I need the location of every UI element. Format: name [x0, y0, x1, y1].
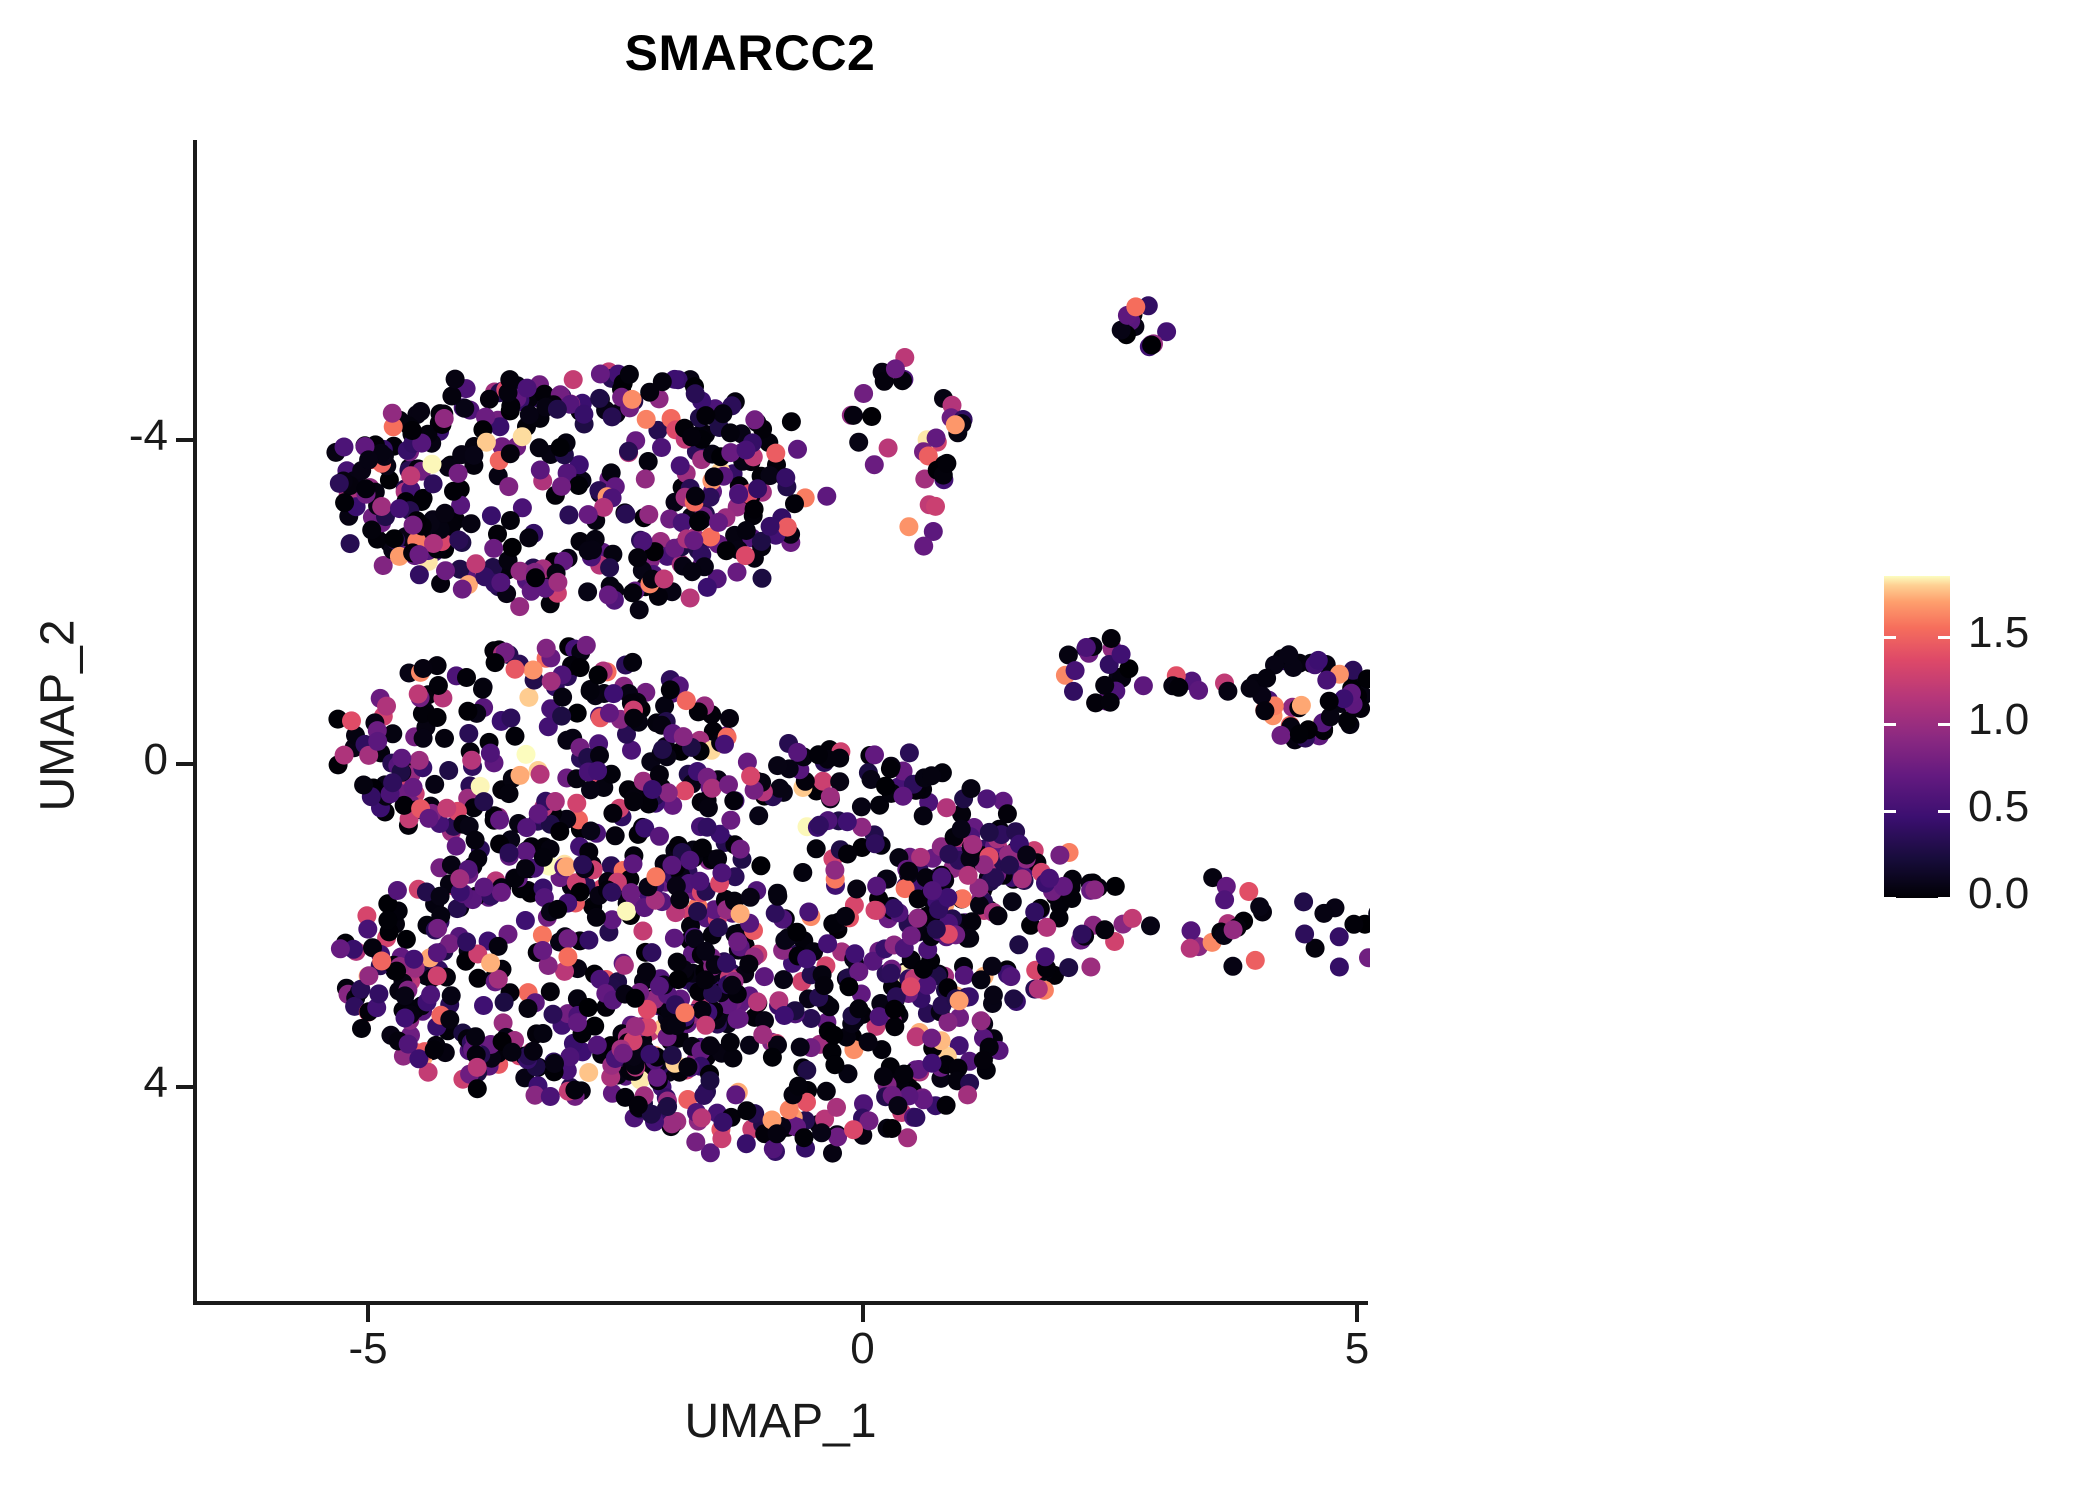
- scatter-point: [641, 1045, 660, 1064]
- scatter-point: [640, 383, 659, 402]
- scatter-point: [1255, 701, 1274, 720]
- page-title: SMARCC2: [0, 24, 1500, 82]
- scatter-point: [653, 740, 672, 759]
- scatter-point: [372, 952, 391, 971]
- scatter-point: [500, 784, 519, 803]
- scatter-point: [1102, 629, 1121, 648]
- scatter-point: [728, 563, 747, 582]
- scatter-point: [703, 779, 722, 798]
- scatter-point: [686, 384, 705, 403]
- scatter-point: [688, 902, 707, 921]
- scatter-point: [709, 513, 728, 532]
- colorbar-gradient: [1884, 576, 1950, 898]
- scatter-point: [354, 776, 373, 795]
- scatter-point: [894, 787, 913, 806]
- scatter-point: [923, 1054, 942, 1073]
- scatter-point: [737, 1101, 756, 1120]
- scatter-point: [867, 877, 886, 896]
- x-tick-label: 0: [783, 1324, 943, 1374]
- scatter-point: [600, 558, 619, 577]
- x-tick-mark: [366, 1305, 370, 1322]
- scatter-point: [709, 918, 728, 937]
- scatter-point: [900, 743, 919, 762]
- scatter-point: [551, 438, 570, 457]
- scatter-point: [435, 729, 454, 748]
- scatter-point: [789, 1077, 808, 1096]
- scatter-point: [1218, 682, 1237, 701]
- scatter-point: [721, 1033, 740, 1052]
- scatter-point: [690, 872, 709, 891]
- scatter-point: [778, 518, 797, 537]
- scatter-point: [603, 804, 622, 823]
- scatter-point: [1077, 638, 1096, 657]
- scatter-point: [1064, 682, 1083, 701]
- scatter-point: [341, 534, 360, 553]
- scatter-point: [480, 390, 499, 409]
- colorbar-tick-label: 0.0: [1968, 869, 2029, 919]
- scatter-point: [429, 676, 448, 695]
- scatter-point: [541, 1087, 560, 1106]
- scatter-point: [865, 455, 884, 474]
- scatter-point: [669, 970, 688, 989]
- scatter-point: [383, 773, 402, 792]
- scatter-point: [717, 954, 736, 973]
- scatter-point: [431, 887, 450, 906]
- scatter-point: [468, 1079, 487, 1098]
- scatter-point: [939, 845, 958, 864]
- scatter-point: [766, 444, 785, 463]
- scatter-point: [481, 954, 500, 973]
- scatter-point: [812, 1123, 831, 1142]
- scatter-point: [712, 863, 731, 882]
- scatter-point: [1292, 696, 1311, 715]
- scatter-point: [977, 789, 996, 808]
- scatter-point: [559, 929, 578, 948]
- colorbar-tick-label: 0.5: [1968, 782, 2029, 832]
- scatter-point: [753, 1025, 772, 1044]
- scatter-point: [401, 466, 420, 485]
- scatter-point: [844, 406, 863, 425]
- scatter-point: [574, 405, 593, 424]
- scatter-point: [1320, 692, 1339, 711]
- scatter-point: [766, 904, 785, 923]
- scatter-point: [699, 798, 718, 817]
- scatter-point: [503, 1043, 522, 1062]
- scatter-point: [888, 1096, 907, 1115]
- scatter-point: [721, 423, 740, 442]
- scatter-point: [623, 653, 642, 672]
- scatter-point: [491, 573, 510, 592]
- scatter-point: [788, 923, 807, 942]
- scatter-point: [356, 479, 375, 498]
- scatter-point: [825, 861, 844, 880]
- scatter-point: [421, 985, 440, 1004]
- scatter-point: [524, 1042, 543, 1061]
- scatter-point: [1029, 979, 1048, 998]
- scatter-point: [449, 531, 468, 550]
- scatter-point: [1181, 939, 1200, 958]
- scatter-point: [683, 562, 702, 581]
- scatter-point: [524, 661, 543, 680]
- scatter-point: [404, 516, 423, 535]
- scatter-point: [517, 842, 536, 861]
- scatter-point: [526, 568, 545, 587]
- scatter-point: [914, 806, 933, 825]
- scatter-point: [671, 456, 690, 475]
- scatter-point: [462, 514, 481, 533]
- scatter-point: [637, 962, 656, 981]
- scatter-point: [652, 438, 671, 457]
- scatter-point: [1330, 958, 1349, 977]
- scatter-point: [511, 766, 530, 785]
- scatter-point: [466, 1027, 485, 1046]
- scatter-point: [874, 1067, 893, 1086]
- scatter-point: [600, 704, 619, 723]
- scatter-point: [696, 1016, 715, 1035]
- scatter-point: [620, 365, 639, 384]
- x-tick-mark: [1355, 1305, 1359, 1322]
- scatter-point: [1330, 927, 1349, 946]
- scatter-point: [469, 969, 488, 988]
- scatter-point: [626, 989, 645, 1008]
- scatter-point: [901, 977, 920, 996]
- scatter-point: [1036, 947, 1055, 966]
- scatter-point: [486, 653, 505, 672]
- scatter-point: [1106, 877, 1125, 896]
- scatter-point: [818, 934, 837, 953]
- scatter-point: [474, 792, 493, 811]
- scatter-point: [492, 883, 511, 902]
- scatter-point: [548, 900, 567, 919]
- scatter-point: [489, 937, 508, 956]
- scatter-point: [423, 455, 442, 474]
- scatter-point: [1000, 856, 1019, 875]
- scatter-point: [768, 887, 787, 906]
- scatter-point: [736, 546, 755, 565]
- scatter-point: [866, 901, 885, 920]
- scatter-point: [447, 837, 466, 856]
- scatter-point: [425, 775, 444, 794]
- scatter-point: [475, 878, 494, 897]
- colorbar-tick-mark: [1884, 810, 1896, 813]
- scatter-point: [534, 1024, 553, 1043]
- scatter-point: [768, 756, 787, 775]
- scatter-point: [409, 685, 428, 704]
- scatter-point: [589, 666, 608, 685]
- colorbar-tick-mark: [1884, 636, 1896, 639]
- colorbar-tick-mark: [1884, 723, 1896, 726]
- scatter-point: [546, 792, 565, 811]
- scatter-point: [458, 702, 477, 721]
- scatter-point: [745, 410, 764, 429]
- scatter-point: [658, 1097, 677, 1116]
- scatter-point: [358, 920, 377, 939]
- scatter-point: [895, 1065, 914, 1084]
- scatter-point: [881, 759, 900, 778]
- scatter-point: [821, 787, 840, 806]
- scatter-point: [1095, 676, 1114, 695]
- scatter-point: [626, 1017, 645, 1036]
- scatter-point: [655, 570, 674, 589]
- scatter-point: [516, 911, 535, 930]
- scatter-point: [885, 899, 904, 918]
- scatter-point: [633, 532, 652, 551]
- scatter-point: [378, 911, 397, 930]
- scatter-point: [619, 442, 638, 461]
- scatter-point: [849, 433, 868, 452]
- scatter-point: [720, 709, 739, 728]
- scatter-point: [1169, 678, 1188, 697]
- scatter-point: [922, 1029, 941, 1048]
- scatter-point: [1050, 846, 1069, 865]
- scatter-point: [397, 930, 416, 949]
- scatter-point: [428, 943, 447, 962]
- scatter-point: [923, 881, 942, 900]
- scatter-point: [581, 682, 600, 701]
- scatter-point: [629, 1096, 648, 1115]
- scatter-point: [428, 708, 447, 727]
- scatter-point: [662, 856, 681, 875]
- scatter-point: [537, 639, 556, 658]
- scatter-point: [559, 506, 578, 525]
- x-axis-title: UMAP_1: [193, 1394, 1368, 1449]
- scatter-point: [411, 402, 430, 421]
- scatter-point: [980, 823, 999, 842]
- scatter-point: [442, 986, 461, 1005]
- scatter-point: [501, 709, 520, 728]
- scatter-point: [439, 761, 458, 780]
- scatter-point: [937, 798, 956, 817]
- scatter-point: [824, 1026, 843, 1045]
- scatter-point: [474, 996, 493, 1015]
- scatter-point: [686, 1133, 705, 1152]
- scatter-point: [517, 745, 536, 764]
- scatter-point: [390, 499, 409, 518]
- scatter-point: [533, 941, 552, 960]
- scatter-point: [847, 880, 866, 899]
- scatter-point: [698, 578, 717, 597]
- scatter-point: [449, 464, 468, 483]
- scatter-point: [335, 438, 354, 457]
- scatter-point: [545, 1054, 564, 1073]
- scatter-point: [396, 1009, 415, 1028]
- scatter-point: [1017, 846, 1036, 865]
- scatter-point: [650, 977, 669, 996]
- colorbar-tick-label: 1.5: [1968, 608, 2029, 658]
- scatter-point: [436, 561, 455, 580]
- scatter-point: [955, 966, 974, 985]
- scatter-point: [883, 1119, 902, 1138]
- scatter-point: [639, 452, 658, 471]
- colorbar-tick-mark: [1938, 897, 1950, 900]
- scatter-point: [726, 1085, 745, 1104]
- scatter-point: [1272, 726, 1291, 745]
- scatter-point: [862, 407, 881, 426]
- scatter-point: [623, 390, 642, 409]
- scatter-point: [633, 922, 652, 941]
- scatter-point: [650, 827, 669, 846]
- scatter-point: [963, 835, 982, 854]
- scatter-point: [845, 944, 864, 963]
- scatter-point: [838, 812, 857, 831]
- scatter-point: [849, 999, 868, 1018]
- scatter-point: [881, 964, 900, 983]
- scatter-point: [983, 957, 1002, 976]
- colorbar-tick-mark: [1884, 897, 1896, 900]
- scatter-point: [724, 791, 743, 810]
- scatter-point: [670, 890, 689, 909]
- scatter-point: [548, 400, 567, 419]
- scatter-point: [745, 500, 764, 519]
- scatter-point: [797, 949, 816, 968]
- scatter-point: [839, 977, 858, 996]
- scatter-point: [958, 1085, 977, 1104]
- scatter-point: [506, 660, 525, 679]
- scatter-point: [763, 1048, 782, 1067]
- y-axis-title: UMAP_2: [31, 416, 86, 1016]
- scatter-point: [519, 528, 538, 547]
- scatter-point: [579, 931, 598, 950]
- scatter-point: [823, 1144, 842, 1163]
- scatter-point: [731, 904, 750, 923]
- scatter-point: [908, 909, 927, 928]
- scatter-point: [865, 745, 884, 764]
- scatter-point: [1279, 645, 1298, 664]
- scatter-point: [578, 582, 597, 601]
- scatter-point: [624, 792, 643, 811]
- scatter-point: [701, 1036, 720, 1055]
- scatter-point: [462, 751, 481, 770]
- scatter-point: [519, 688, 538, 707]
- y-tick-mark: [176, 1085, 193, 1089]
- scatter-point: [937, 454, 956, 473]
- scatter-point: [810, 816, 829, 835]
- scatter-point: [739, 955, 758, 974]
- scatter-point: [577, 636, 596, 655]
- scatter-point: [450, 869, 469, 888]
- scatter-point: [852, 797, 871, 816]
- scatter-point: [410, 751, 429, 770]
- scatter-point: [591, 365, 610, 384]
- scatter-point: [1009, 935, 1028, 954]
- scatter-point: [737, 441, 756, 460]
- scatter-point: [1095, 920, 1114, 939]
- scatter-point: [534, 848, 553, 867]
- scatter-point: [440, 1010, 459, 1029]
- scatter-point: [604, 684, 623, 703]
- scatter-point: [404, 778, 423, 797]
- scatter-point: [712, 1129, 731, 1148]
- scatter-points: [195, 140, 1370, 1305]
- scatter-point: [410, 545, 429, 564]
- scatter-point: [331, 939, 350, 958]
- scatter-point: [495, 993, 514, 1012]
- colorbar-tick-mark: [1938, 723, 1950, 726]
- scatter-point: [782, 412, 801, 431]
- scatter-point: [565, 1081, 584, 1100]
- scatter-point: [558, 947, 577, 966]
- scatter-point: [359, 966, 378, 985]
- scatter-point: [741, 888, 760, 907]
- scatter-point: [1101, 693, 1120, 712]
- scatter-point: [684, 531, 703, 550]
- scatter-point: [646, 867, 665, 886]
- scatter-point: [466, 831, 485, 850]
- scatter-point: [419, 809, 438, 828]
- scatter-point: [335, 746, 354, 765]
- scatter-point: [659, 783, 678, 802]
- scatter-point: [444, 482, 463, 501]
- scatter-point: [542, 672, 561, 691]
- scatter-point: [1081, 958, 1100, 977]
- scatter-point: [701, 1071, 720, 1090]
- scatter-point: [1309, 651, 1328, 670]
- scatter-point: [569, 476, 588, 495]
- scatter-point: [939, 1013, 958, 1032]
- scatter-point: [1239, 882, 1258, 901]
- scatter-point: [624, 854, 643, 873]
- scatter-point: [749, 806, 768, 825]
- scatter-point: [531, 461, 550, 480]
- scatter-point: [548, 573, 567, 592]
- scatter-point: [1004, 989, 1023, 1008]
- scatter-point: [1085, 880, 1104, 899]
- scatter-point: [728, 932, 747, 951]
- scatter-point: [1003, 892, 1022, 911]
- scatter-point: [552, 707, 571, 726]
- scatter-point: [675, 781, 694, 800]
- x-tick-mark: [861, 1305, 865, 1322]
- scatter-point: [1359, 948, 1370, 967]
- scatter-point: [885, 1000, 904, 1019]
- scatter-point: [681, 589, 700, 608]
- scatter-point: [453, 580, 472, 599]
- scatter-point: [579, 1063, 598, 1082]
- scatter-point: [1295, 925, 1314, 944]
- scatter-point: [489, 970, 508, 989]
- scatter-point: [719, 775, 738, 794]
- scatter-point: [906, 1108, 925, 1127]
- scatter-point: [368, 732, 387, 751]
- scatter-point: [602, 883, 621, 902]
- scatter-point: [689, 512, 708, 531]
- scatter-point: [388, 881, 407, 900]
- scatter-point: [714, 1113, 733, 1132]
- scatter-point: [682, 428, 701, 447]
- scatter-point: [1059, 958, 1078, 977]
- scatter-point: [428, 919, 447, 938]
- scatter-point: [516, 859, 535, 878]
- scatter-point: [564, 370, 583, 389]
- scatter-point: [437, 799, 456, 818]
- scatter-point: [788, 440, 807, 459]
- scatter-point: [972, 1011, 991, 1030]
- scatter-point: [959, 866, 978, 885]
- scatter-point: [770, 779, 789, 798]
- scatter-point: [466, 554, 485, 573]
- scatter-point: [1134, 676, 1153, 695]
- scatter-point: [1246, 951, 1265, 970]
- scatter-point: [1344, 915, 1363, 934]
- scatter-point: [1294, 892, 1313, 911]
- scatter-point: [989, 906, 1008, 925]
- scatter-point: [482, 506, 501, 525]
- scatter-point: [383, 404, 402, 423]
- y-tick-label: 4: [18, 1058, 168, 1108]
- scatter-point: [404, 950, 423, 969]
- scatter-point: [785, 494, 804, 513]
- scatter-point: [499, 477, 518, 496]
